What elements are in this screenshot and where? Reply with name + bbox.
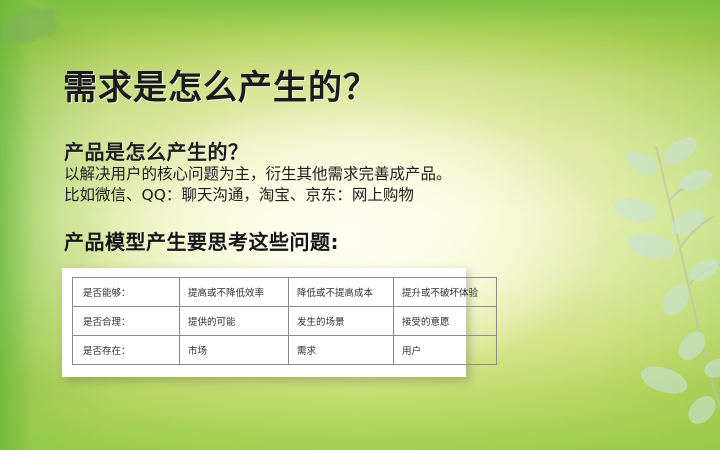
- slide-canvas: 需求是怎么产生的？ 产品是怎么产生的？ 以解决用户的核心问题为主，衍生其他需求完…: [0, 0, 720, 450]
- row-label: 是否合理：: [73, 307, 180, 336]
- page-title: 需求是怎么产生的？: [63, 60, 378, 109]
- table-cell: 降低或不提高成本: [289, 278, 394, 307]
- table-row: 是否存在： 市场 需求 用户: [73, 336, 497, 365]
- slide-content: 需求是怎么产生的？ 产品是怎么产生的？ 以解决用户的核心问题为主，衍生其他需求完…: [0, 0, 720, 450]
- table-cell: 提高或不降低效率: [180, 278, 289, 307]
- row-label: 是否能够：: [73, 278, 180, 307]
- table-row: 是否合理： 提供的可能 发生的场景 接受的意愿: [73, 307, 497, 336]
- table-cell: 提供的可能: [180, 307, 289, 336]
- body-line-1: 以解决用户的核心问题为主，衍生其他需求完善成产品。: [64, 164, 452, 185]
- section-heading: 产品是怎么产生的？: [64, 136, 249, 165]
- body-line-2: 比如微信、QQ：聊天沟通，淘宝、京东：网上购物: [64, 185, 452, 206]
- matrix-table-card: 是否能够： 提高或不降低效率 降低或不提高成本 提升或不破坏体验 是否合理： 提…: [62, 268, 466, 377]
- product-model-matrix: 是否能够： 提高或不降低效率 降低或不提高成本 提升或不破坏体验 是否合理： 提…: [72, 277, 497, 365]
- table-cell: 市场: [180, 336, 289, 365]
- row-label: 是否存在：: [73, 336, 180, 365]
- table-row: 是否能够： 提高或不降低效率 降低或不提高成本 提升或不破坏体验: [73, 278, 497, 307]
- body-text-block: 以解决用户的核心问题为主，衍生其他需求完善成产品。 比如微信、QQ：聊天沟通，淘…: [64, 164, 452, 206]
- second-heading: 产品模型产生要思考这些问题:: [64, 226, 339, 255]
- table-cell: 用户: [394, 336, 497, 365]
- table-cell: 需求: [289, 336, 394, 365]
- table-cell: 接受的意愿: [394, 307, 497, 336]
- table-cell: 发生的场景: [289, 307, 394, 336]
- table-cell: 提升或不破坏体验: [394, 278, 497, 307]
